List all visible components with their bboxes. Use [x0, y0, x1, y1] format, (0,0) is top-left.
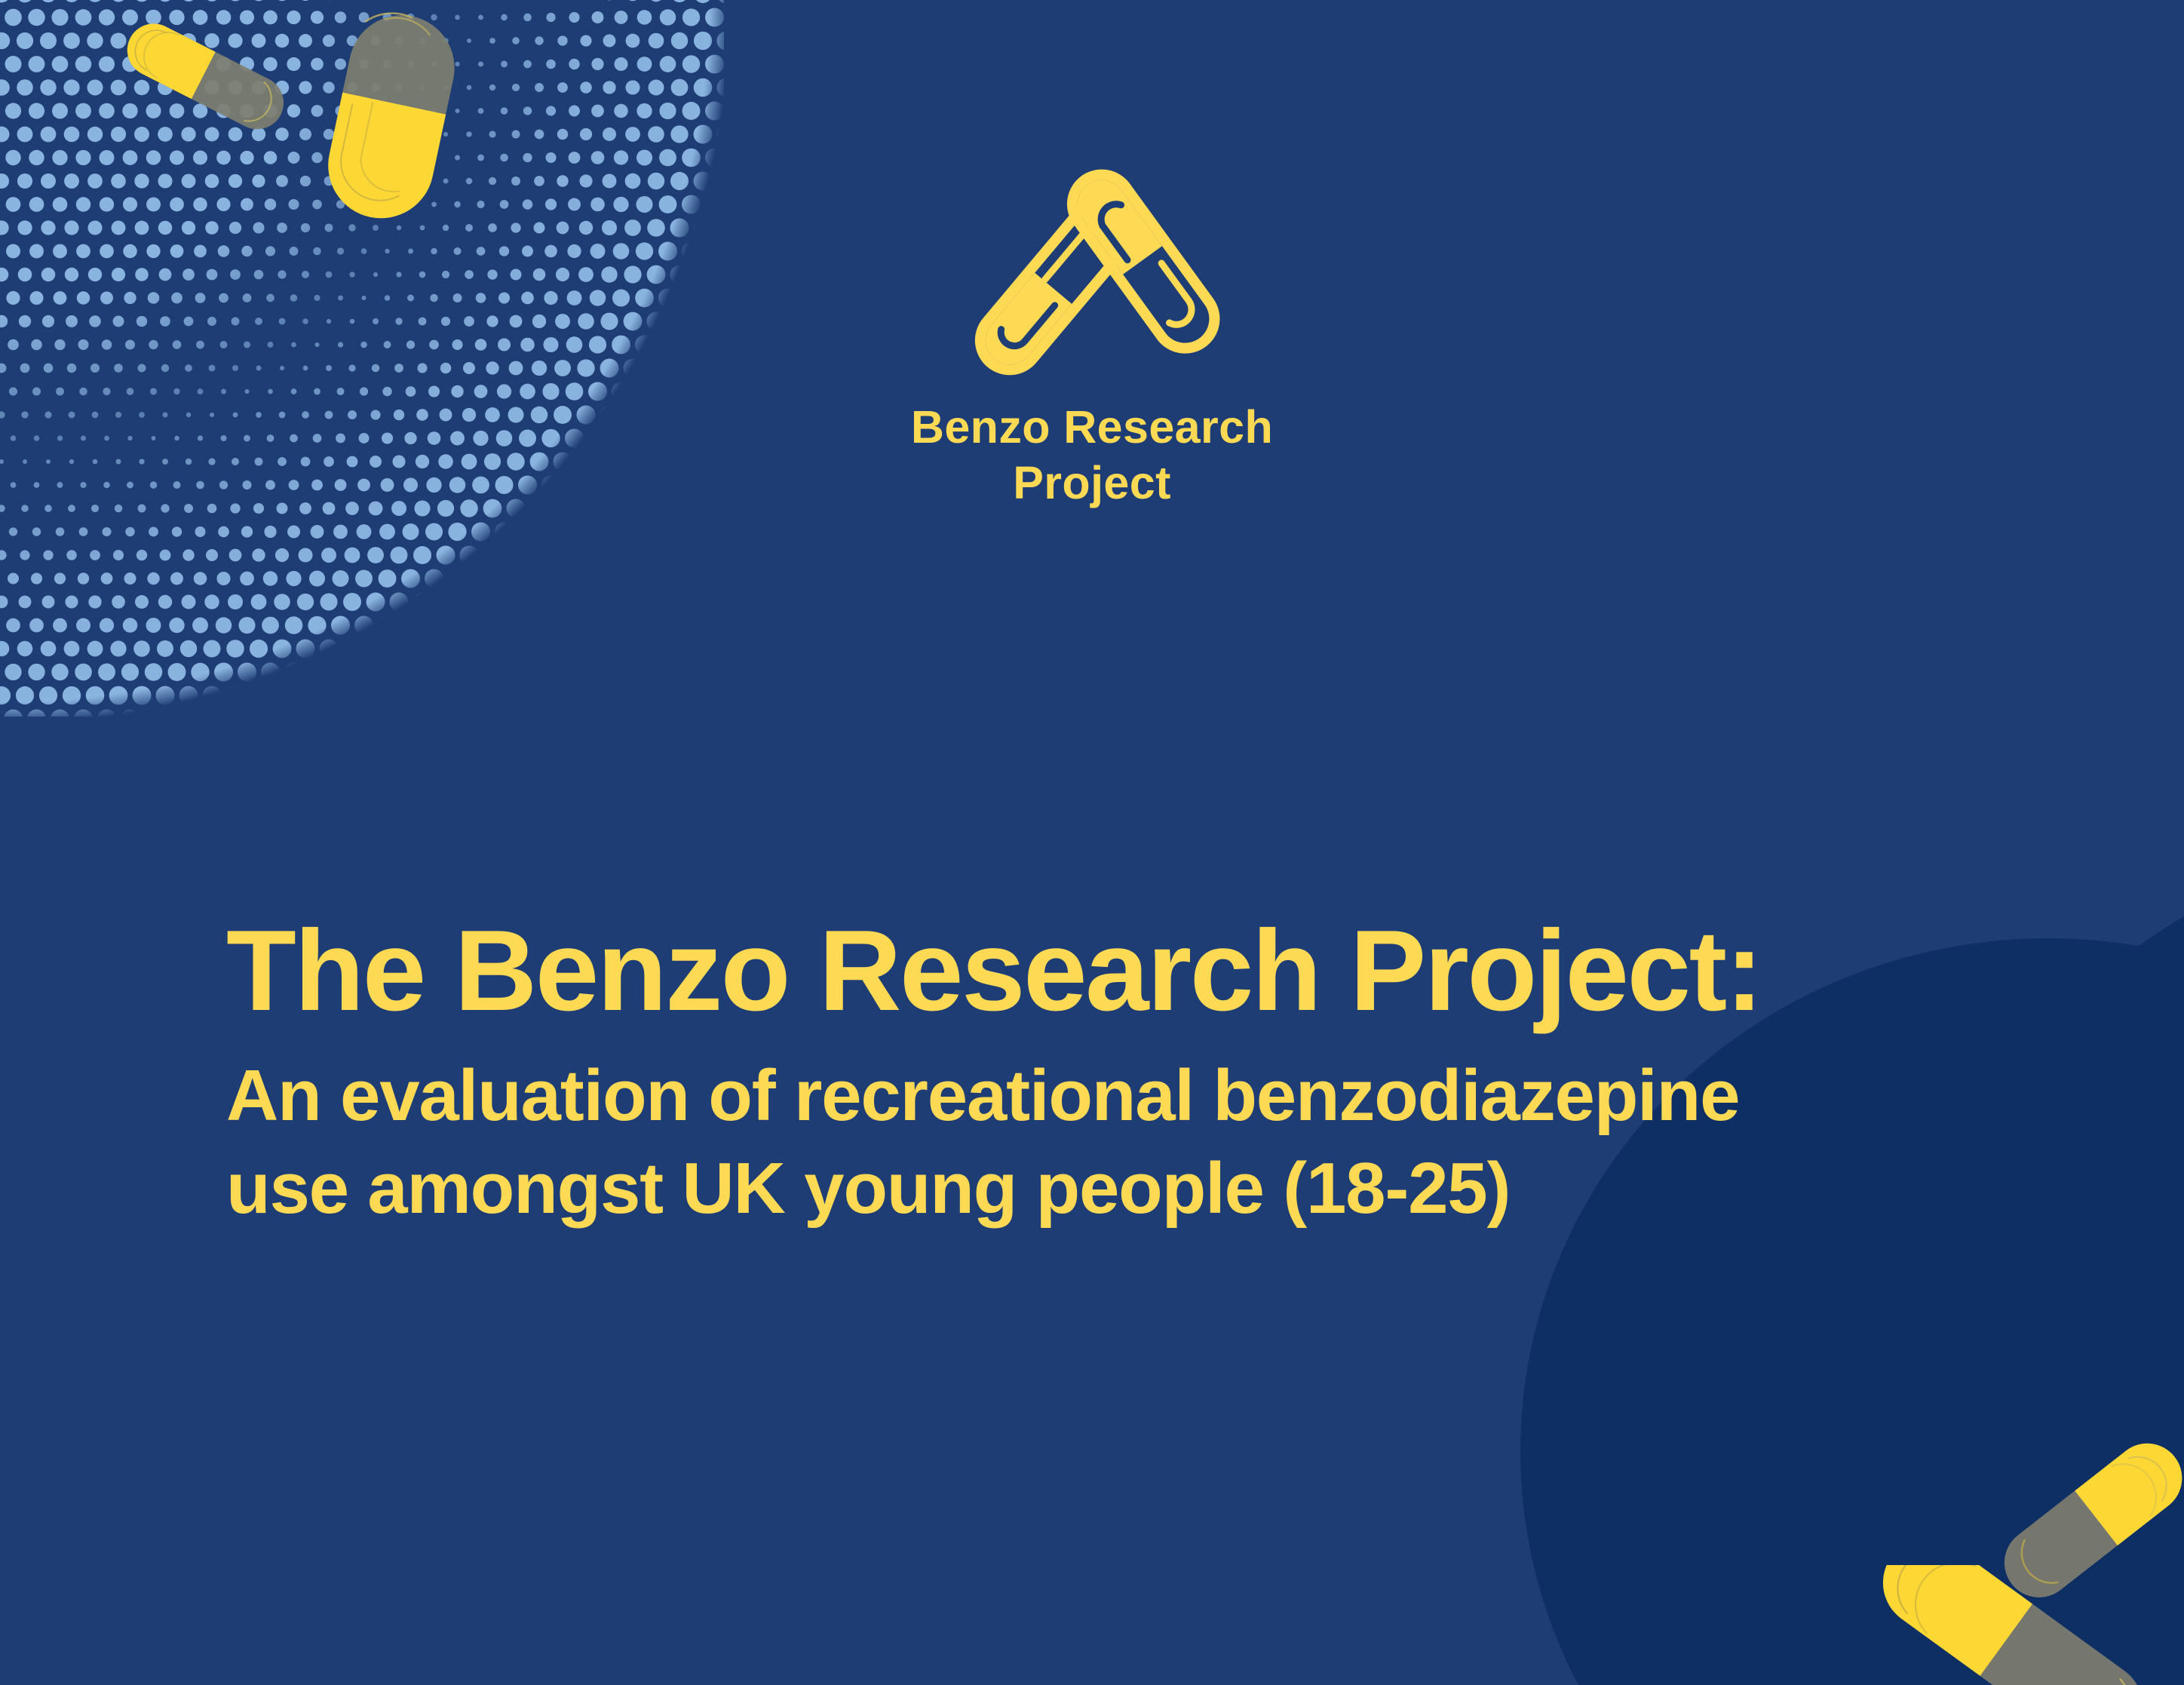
capsule-pill-icon — [117, 21, 294, 130]
logo: Benzo Research Project — [0, 147, 2184, 511]
page-subtitle: An evaluation of recreational benzodiaze… — [226, 1050, 1983, 1235]
capsule-pill-icon — [1848, 1565, 2164, 1685]
page-subtitle-line1: An evaluation of recreational benzodiaze… — [226, 1050, 1983, 1143]
two-capsule-pills-icon — [945, 147, 1239, 396]
title-block: The Benzo Research Project: An evaluatio… — [226, 911, 1998, 1235]
logo-wordmark: Benzo Research Project — [911, 399, 1273, 511]
logo-wordmark-line1: Benzo Research — [911, 401, 1273, 453]
logo-wordmark-line2: Project — [911, 455, 1273, 511]
capsule-pill-icon — [1983, 1433, 2184, 1607]
page-subtitle-line2: use amongst UK young people (18-25) — [226, 1143, 1983, 1235]
title-slide: Benzo Research Project The Benzo Researc… — [0, 0, 2184, 1685]
page-title: The Benzo Research Project: — [226, 911, 1998, 1030]
